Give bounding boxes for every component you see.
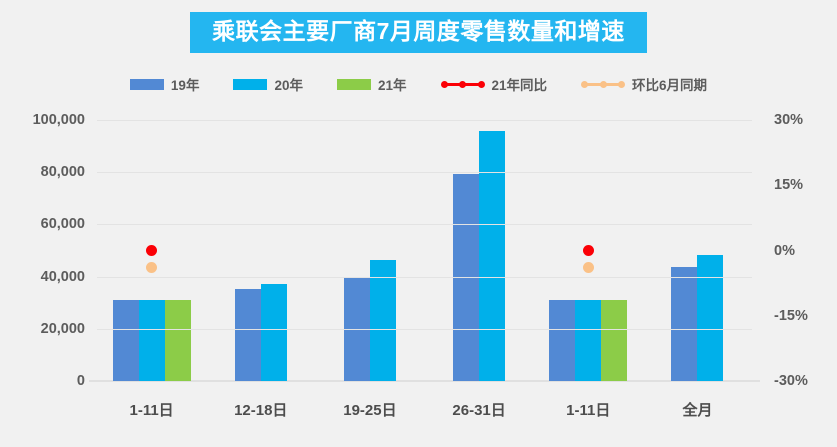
gridline xyxy=(97,224,752,225)
bar-groups: 1-11日12-18日19-25日26-31日1-11日全月 xyxy=(97,120,752,381)
bar-21年[interactable] xyxy=(601,300,627,381)
bar-20年[interactable] xyxy=(261,284,287,381)
bars-wrap xyxy=(315,120,424,381)
bar-19年[interactable] xyxy=(549,300,575,381)
bar-group: 1-11日 xyxy=(534,120,643,381)
bar-19年[interactable] xyxy=(671,267,697,381)
chart-title: 乘联会主要厂商7月周度零售数量和增速 xyxy=(190,12,647,53)
bar-20年[interactable] xyxy=(139,300,165,381)
y-axis-right-tick: -30% xyxy=(774,373,808,389)
bar-group: 1-11日 xyxy=(97,120,206,381)
y-axis-left-tick: 0 xyxy=(77,373,85,389)
bar-20年[interactable] xyxy=(479,131,505,381)
bar-group: 全月 xyxy=(643,120,752,381)
gridline xyxy=(97,172,752,173)
chart-container: 乘联会主要厂商7月周度零售数量和增速 19年20年21年21年同比环比6月同期 … xyxy=(0,0,837,447)
legend-label: 20年 xyxy=(274,74,303,94)
legend-item-1[interactable]: 19年 xyxy=(130,74,200,94)
bar-group: 12-18日 xyxy=(206,120,315,381)
bar-swatch-icon xyxy=(233,79,267,90)
gridline xyxy=(97,329,752,330)
bar-19年[interactable] xyxy=(453,174,479,381)
legend-item-2[interactable]: 20年 xyxy=(233,74,303,94)
x-axis-category-label: 全月 xyxy=(643,399,752,420)
y-axis-left-tick: 20,000 xyxy=(41,321,85,337)
legend-item-3[interactable]: 21年 xyxy=(337,74,407,94)
legend-label: 19年 xyxy=(171,74,200,94)
y-axis-right-tick: -15% xyxy=(774,308,808,324)
line-marker-icon xyxy=(581,78,625,90)
bar-swatch-icon xyxy=(130,79,164,90)
bar-group: 19-25日 xyxy=(315,120,424,381)
x-axis-category-label: 19-25日 xyxy=(315,399,424,420)
y-axis-left-tick: 80,000 xyxy=(41,164,85,180)
chart-title-wrap: 乘联会主要厂商7月周度零售数量和增速 xyxy=(0,12,837,53)
plot-area: 1-11日12-18日19-25日26-31日1-11日全月 100,00080… xyxy=(97,120,752,381)
bar-19年[interactable] xyxy=(235,289,261,381)
x-axis-category-label: 1-11日 xyxy=(534,399,643,420)
y-axis-left-tick: 40,000 xyxy=(41,269,85,285)
bar-19年[interactable] xyxy=(113,300,139,381)
bar-group: 26-31日 xyxy=(425,120,534,381)
bars-wrap xyxy=(206,120,315,381)
y-axis-right-tick: 30% xyxy=(774,112,803,128)
bar-21年[interactable] xyxy=(165,300,191,381)
legend-item-4[interactable]: 21年同比 xyxy=(441,74,548,94)
y-axis-right-tick: 0% xyxy=(774,243,795,259)
y-axis-left-tick: 100,000 xyxy=(33,112,85,128)
x-axis-category-label: 26-31日 xyxy=(425,399,534,420)
legend-label: 环比6月同期 xyxy=(632,74,707,94)
y-axis-left-tick: 60,000 xyxy=(41,216,85,232)
y-axis-right-tick: 15% xyxy=(774,177,803,193)
legend-item-5[interactable]: 环比6月同期 xyxy=(581,74,707,94)
chart-legend: 19年20年21年21年同比环比6月同期 xyxy=(0,74,837,94)
legend-label: 21年同比 xyxy=(492,74,548,94)
bar-swatch-icon xyxy=(337,79,371,90)
x-axis-category-label: 12-18日 xyxy=(206,399,315,420)
legend-label: 21年 xyxy=(378,74,407,94)
x-axis-category-label: 1-11日 xyxy=(97,399,206,420)
bar-20年[interactable] xyxy=(575,300,601,381)
bars-wrap xyxy=(425,120,534,381)
marker-21年同比[interactable] xyxy=(583,245,594,256)
bars-wrap xyxy=(643,120,752,381)
gridline xyxy=(97,277,752,278)
marker-21年同比[interactable] xyxy=(146,245,157,256)
bar-20年[interactable] xyxy=(697,255,723,381)
gridline xyxy=(97,120,752,121)
line-marker-icon xyxy=(441,78,485,90)
bar-20年[interactable] xyxy=(370,260,396,381)
